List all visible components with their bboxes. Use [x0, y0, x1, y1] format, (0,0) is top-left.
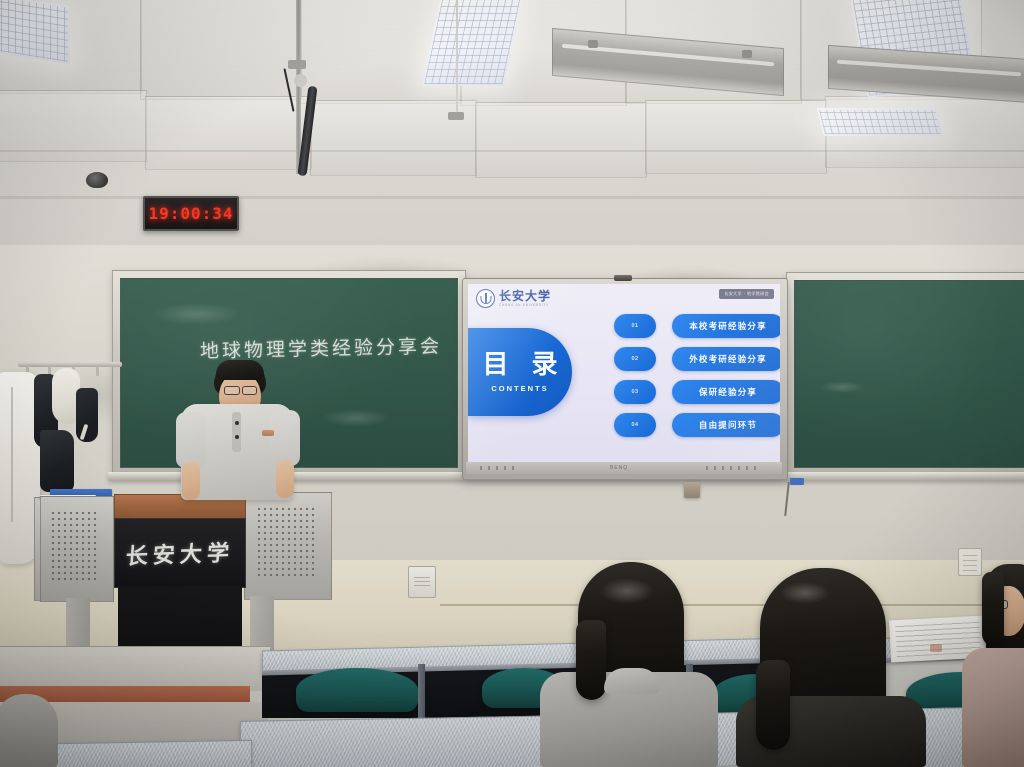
podium-front-panel: 长安大学 — [114, 518, 246, 588]
clock-time-display: 19:00:34 — [148, 204, 233, 223]
student-left-hair-front — [576, 620, 606, 700]
display-control-buttons[interactable] — [706, 466, 760, 470]
toc-label-1: 本校考研经验分享 — [689, 320, 767, 332]
presenter-shirt-placket — [232, 412, 241, 452]
ir-sensor-box — [684, 482, 700, 498]
presenter-forearm-right — [276, 460, 294, 498]
presenter-fringe — [216, 360, 264, 380]
student-left-hair-highlight — [600, 578, 654, 604]
slide-university-logo: 长安大学 CHANG'AN UNIVERSITY — [476, 289, 551, 308]
podium-left-grille — [50, 510, 100, 584]
display-brand-label: BENQ — [610, 465, 628, 471]
toc-bar-2: 外校考研经验分享 — [672, 347, 780, 371]
toc-number-2: 02 — [614, 347, 656, 371]
presenter-chest-logo — [262, 430, 274, 436]
classroom-photo: 19:00:34 地球物理学类经验分享会 长安大学 CHANG'AN UNIVE… — [0, 0, 1024, 767]
student-left-hood — [604, 668, 660, 694]
worksheet-stamp — [930, 644, 942, 652]
umbrella — [76, 388, 98, 442]
coat-hook-4[interactable] — [96, 366, 99, 376]
toc-label-3: 保研经验分享 — [699, 386, 757, 398]
logo-name-cn: 长安大学 — [499, 290, 551, 302]
mic-ceiling-mount — [294, 74, 307, 87]
student-center-hair-front — [756, 660, 790, 750]
display-io-ports[interactable] — [480, 466, 514, 470]
presenter-glasses-left-lens — [224, 386, 240, 395]
contents-heading-cn: 目 录 — [475, 352, 564, 378]
student-right-shoulders — [962, 648, 1024, 767]
podium-carved-text: 长安大学 — [125, 535, 236, 571]
toc-bar-4: 自由提问环节 — [672, 413, 780, 437]
podium-right-grille — [256, 506, 316, 580]
coat-rack-bar — [18, 362, 122, 367]
podium-riser-platform — [0, 646, 270, 691]
presenter-forearm-left — [182, 462, 200, 500]
presenter-glasses-right-lens — [242, 386, 257, 395]
presenter-sleeve-left — [176, 412, 206, 468]
toc-bar-1: 本校考研经验分享 — [672, 314, 780, 338]
ceiling-light-1 — [0, 0, 70, 64]
wall-power-outlet[interactable] — [408, 566, 436, 598]
wall-jack-blue[interactable] — [790, 478, 804, 485]
presentation-screen[interactable]: 长安大学 CHANG'AN UNIVERSITY 长安大学 · 地学院研会 目 … — [468, 284, 780, 464]
toc-number-1: 01 — [614, 314, 656, 338]
toc-item-3[interactable]: 03 保研经验分享 — [614, 380, 780, 404]
contents-heading-en: CONTENTS — [491, 384, 548, 393]
dome-camera — [86, 172, 108, 188]
toc-label-4: 自由提问环节 — [699, 419, 757, 431]
toc-bar-3: 保研经验分享 — [672, 380, 780, 404]
ceiling-light-4 — [817, 108, 944, 136]
slide-corner-badge: 长安大学 · 地学院研会 — [719, 289, 774, 299]
dark-scarf — [40, 430, 74, 492]
toc-number-4: 04 — [614, 413, 656, 437]
logo-name-en: CHANG'AN UNIVERSITY — [499, 304, 551, 307]
student-center-hair-highlight — [780, 582, 830, 604]
digital-clock: 19:00:34 — [143, 196, 239, 231]
university-seal-icon — [476, 289, 495, 308]
audience-student-far-left-partial — [0, 694, 58, 767]
toc-label-2: 外校考研经验分享 — [689, 353, 767, 365]
display-top-camera — [614, 275, 632, 281]
slide-contents: 长安大学 CHANG'AN UNIVERSITY 长安大学 · 地学院研会 目 … — [468, 284, 780, 464]
toc-item-2[interactable]: 02 外校考研经验分享 — [614, 347, 780, 371]
presenter-sleeve-right — [270, 410, 300, 466]
presenter-shirt-button-1 — [235, 421, 239, 425]
slide-contents-heading: 目 录 CONTENTS — [468, 328, 572, 416]
presenter-shirt-button-2 — [235, 435, 239, 439]
toc-item-1[interactable]: 01 本校考研经验分享 — [614, 314, 780, 338]
blackboard-chalk-text: 地球物理学类经验分享会 — [200, 331, 443, 363]
toc-number-3: 03 — [614, 380, 656, 404]
desk-leg-1 — [418, 664, 425, 720]
toc-item-4[interactable]: 04 自由提问环节 — [614, 413, 780, 437]
wall-data-plate[interactable] — [958, 548, 982, 576]
blackboard-panel-right — [794, 280, 1024, 468]
chair-1[interactable] — [296, 668, 418, 712]
student-right-hair-front — [982, 572, 1004, 646]
